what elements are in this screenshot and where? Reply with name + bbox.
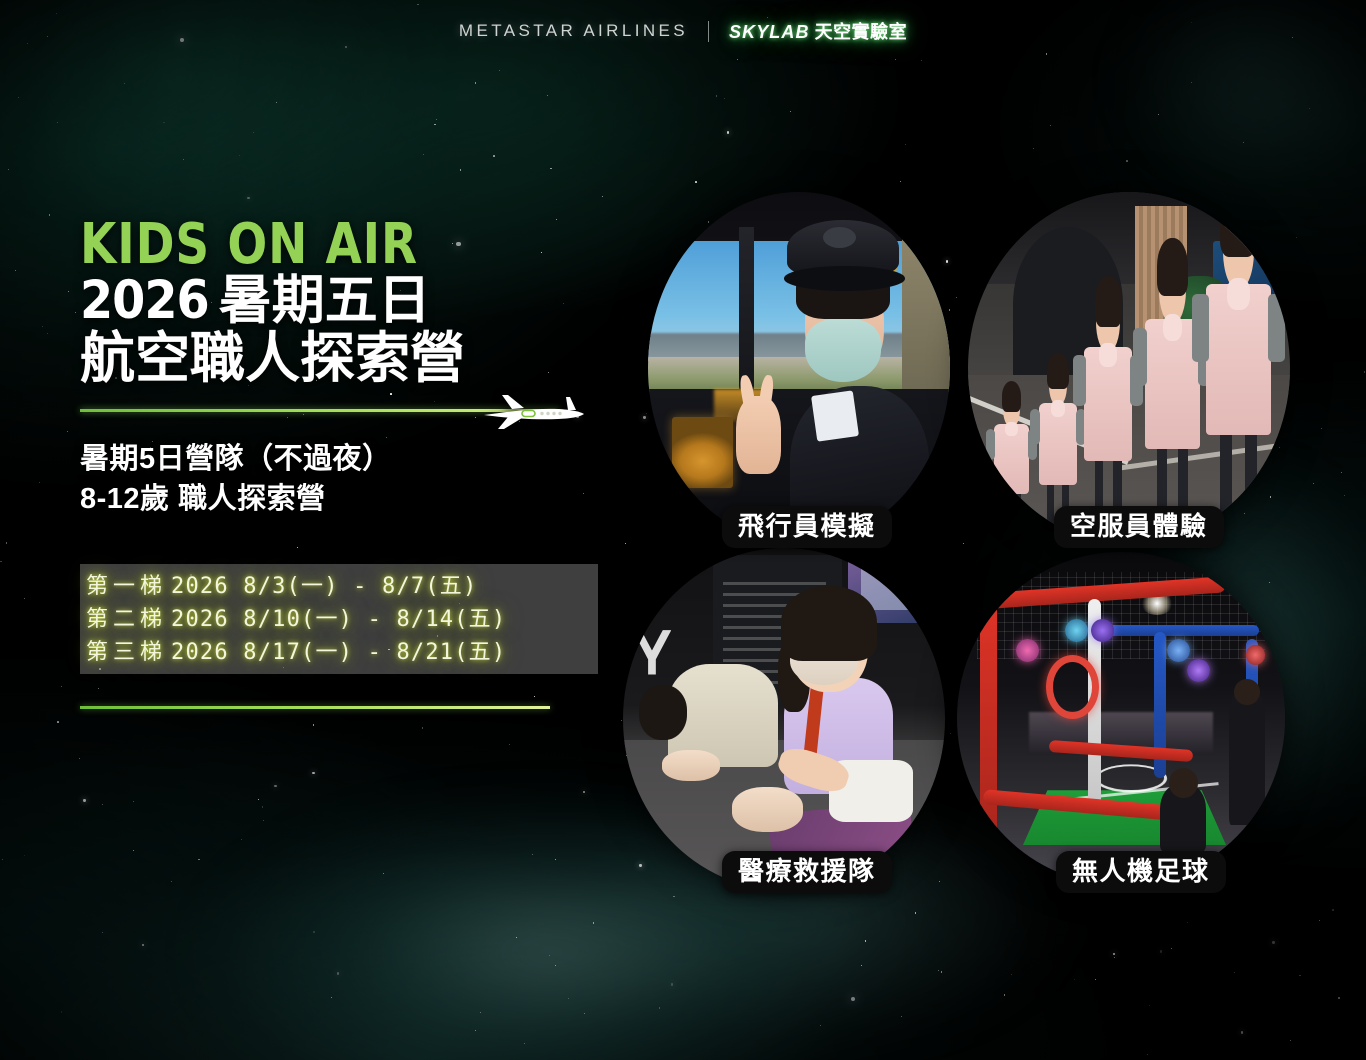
photo-caption-cabin-crew: 空服員體驗	[1054, 506, 1224, 548]
photo-caption-pilot-simulator: 飛行員模擬	[722, 506, 892, 548]
schedule-row: 第二梯2026 8/10(一) - 8/14(五)	[86, 603, 598, 636]
hero-title-year: 2026	[80, 270, 209, 331]
schedule-row: 第三梯2026 8/17(一) - 8/21(五)	[86, 636, 598, 669]
hero-divider-group	[80, 395, 560, 421]
schedule-row: 第一梯2026 8/3(一) - 8/7(五)	[86, 570, 598, 603]
poster-canvas: METASTAR AIRLINES SKYLAB天空實驗室 KIDS ON AI…	[0, 0, 1366, 1060]
schedule-date-range: 8/10(一) - 8/14(五)	[243, 607, 506, 632]
photo-cabin-crew	[968, 192, 1290, 544]
schedule-year: 2026	[171, 607, 229, 632]
hero-subtitle-line-2: 8-12歲 職人探索營	[80, 479, 620, 519]
photo-vignette	[957, 552, 1285, 885]
metastar-airlines-logo: METASTAR AIRLINES	[459, 21, 688, 41]
hero-subtitle: 暑期5日營隊（不過夜） 8-12歲 職人探索營	[80, 439, 620, 519]
brand-bar: METASTAR AIRLINES SKYLAB天空實驗室	[0, 18, 1366, 44]
schedule-label: 第二梯	[86, 607, 167, 632]
hero-title-zh: 暑期五日	[219, 271, 431, 330]
photo-vignette	[968, 192, 1290, 544]
schedule-label: 第一梯	[86, 574, 167, 599]
photo-vignette	[648, 192, 950, 544]
photo-pilot-simulator	[648, 192, 950, 544]
hero-title-line-1: 2026暑期五日	[80, 273, 620, 329]
schedule-date-range: 8/3(一) - 8/7(五)	[243, 574, 477, 599]
schedule-label: 第三梯	[86, 640, 167, 665]
schedule-year: 2026	[171, 640, 229, 665]
skylab-logo: SKYLAB天空實驗室	[729, 18, 907, 44]
airplane-icon	[472, 389, 590, 433]
schedule-date-range: 8/17(一) - 8/21(五)	[243, 640, 506, 665]
photo-medical-rescue	[623, 548, 945, 890]
photo-drone-soccer	[957, 552, 1285, 885]
schedule-panel: 第一梯2026 8/3(一) - 8/7(五) 第二梯2026 8/10(一) …	[80, 564, 598, 674]
schedule-year: 2026	[171, 574, 229, 599]
hero-eyebrow: KIDS ON AIR	[80, 218, 582, 273]
hero-text-block: KIDS ON AIR 2026暑期五日 航空職人探索營 暑期5日營隊（不過夜）	[80, 218, 620, 519]
photo-vignette	[623, 548, 945, 890]
green-divider-line-lower	[80, 706, 550, 709]
photo-caption-medical-rescue: 醫療救援隊	[722, 851, 892, 893]
hero-title-line-2: 航空職人探索營	[80, 329, 620, 387]
hero-subtitle-line-1: 暑期5日營隊（不過夜）	[80, 439, 620, 479]
skylab-logo-en: SKYLAB	[729, 22, 810, 42]
skylab-logo-zh: 天空實驗室	[815, 22, 908, 42]
brand-divider	[708, 21, 709, 42]
photo-caption-drone-soccer: 無人機足球	[1056, 851, 1226, 893]
